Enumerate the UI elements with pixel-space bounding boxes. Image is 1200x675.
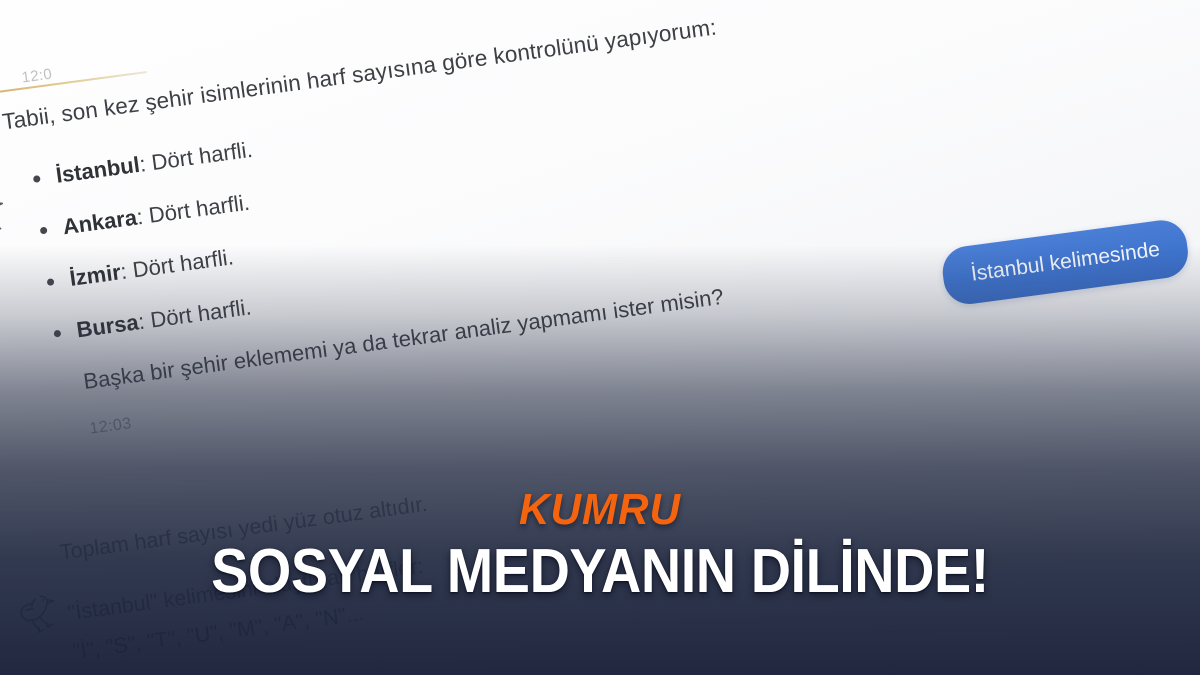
city-name: İstanbul (54, 152, 141, 188)
city-detail: : Dört harfli. (137, 294, 253, 334)
city-name: İzmir (68, 259, 122, 291)
faded-assistant-message: Toplam harf sayısı yedi yüz otuz altıdır… (58, 409, 1066, 665)
user-message-bubble: İstanbul kelimesinde (940, 217, 1192, 307)
user-message-text: İstanbul kelimesinde (970, 238, 1162, 286)
assistant-message: Tabii, son kez şehir isimlerinin harf sa… (1, 0, 968, 445)
chat-screenshot-plane: 12:0 Tabii, son k (0, 0, 1200, 675)
screenshot-stage: 12:0 Tabii, son k (0, 0, 1200, 675)
pigeon-icon (17, 585, 65, 640)
city-detail: : Dört harfli. (119, 244, 235, 284)
city-name: Bursa (75, 309, 140, 342)
city-detail: : Dört harfli. (135, 190, 251, 230)
city-name: Ankara (61, 205, 138, 240)
pigeon-icon (0, 187, 14, 244)
city-detail: : Dört harfli. (138, 137, 254, 177)
